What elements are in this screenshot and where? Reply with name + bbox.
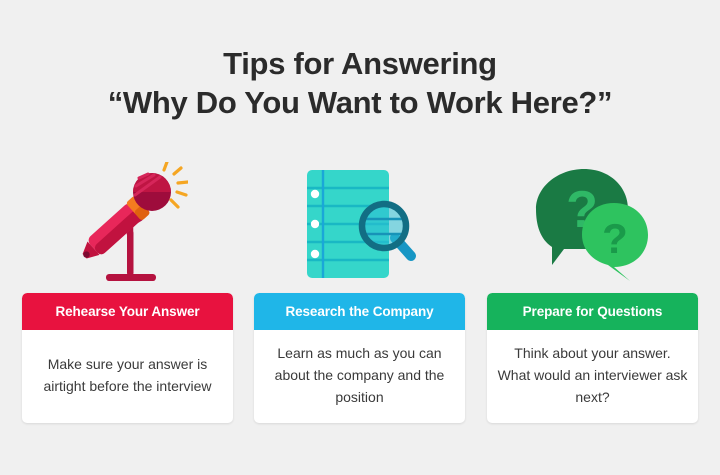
card-heading-prepare: Prepare for Questions bbox=[523, 304, 663, 319]
card-body-text-research: Learn as much as you can about the compa… bbox=[264, 342, 455, 408]
card-header-research: Research the Company bbox=[254, 293, 465, 330]
icon-cell-prepare: ? ? bbox=[487, 160, 698, 288]
card-body-research: Learn as much as you can about the compa… bbox=[254, 330, 465, 423]
infographic-root: Tips for Answering “Why Do You Want to W… bbox=[0, 0, 720, 475]
tip-card-prepare[interactable]: Prepare for Questions Think about your a… bbox=[487, 293, 698, 423]
title-line-2: “Why Do You Want to Work Here?” bbox=[0, 83, 720, 122]
icon-cell-research bbox=[254, 160, 465, 288]
icons-row: ? ? bbox=[0, 160, 720, 288]
card-heading-rehearse: Rehearse Your Answer bbox=[55, 304, 199, 319]
card-body-rehearse: Make sure your answer is airtight before… bbox=[22, 330, 233, 423]
page-title: Tips for Answering “Why Do You Want to W… bbox=[0, 44, 720, 122]
card-body-text-rehearse: Make sure your answer is airtight before… bbox=[32, 353, 223, 397]
microphone-icon bbox=[68, 162, 188, 286]
cards-row: Rehearse Your Answer Make sure your answ… bbox=[0, 293, 720, 423]
card-body-text-prepare: Think about your answer. What would an i… bbox=[497, 342, 688, 408]
title-line-1: Tips for Answering bbox=[0, 44, 720, 83]
icon-cell-rehearse bbox=[22, 160, 233, 288]
card-body-prepare: Think about your answer. What would an i… bbox=[487, 330, 698, 423]
tip-card-rehearse[interactable]: Rehearse Your Answer Make sure your answ… bbox=[22, 293, 233, 423]
question-mark-small: ? bbox=[602, 215, 628, 262]
question-speech-bubbles-icon: ? ? bbox=[530, 165, 656, 283]
card-header-prepare: Prepare for Questions bbox=[487, 293, 698, 330]
card-header-rehearse: Rehearse Your Answer bbox=[22, 293, 233, 330]
card-heading-research: Research the Company bbox=[285, 304, 433, 319]
tip-card-research[interactable]: Research the Company Learn as much as yo… bbox=[254, 293, 465, 423]
notebook-magnifier-icon bbox=[299, 164, 421, 284]
